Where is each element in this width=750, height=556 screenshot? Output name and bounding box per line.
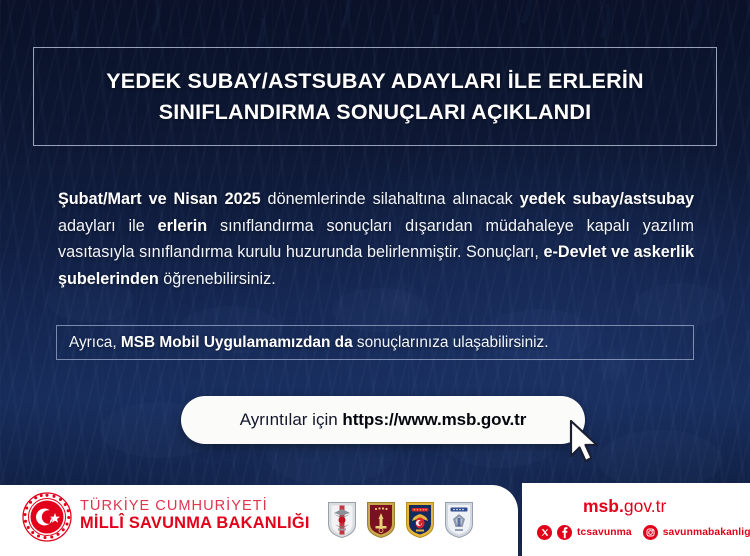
body-text-8: öğrenebilirsiniz. (159, 270, 276, 288)
footer-right-panel (522, 483, 750, 556)
mobile-app-info-text: Ayrıca, MSB Mobil Uygulamamızdan da sonu… (57, 334, 549, 352)
title-box: YEDEK SUBAY/ASTSUBAY ADAYLARI İLE ERLERİ… (33, 47, 717, 146)
instagram-handle-label: savunmabakanligi (663, 527, 750, 538)
ministry-republic-label: TÜRKİYE CUMHURİYETİ (80, 498, 310, 514)
body-paragraph: Şubat/Mart ve Nisan 2025 dönemlerinde si… (58, 186, 694, 292)
url-address: https://www.msb.gov.tr (342, 410, 526, 429)
armed-forces-emblems (327, 501, 474, 539)
ministry-name-block: TÜRKİYE CUMHURİYETİ MİLLÎ SAVUNMA BAKANL… (80, 498, 310, 533)
title-line-2: SINIFLANDIRMA SONUÇLARI AÇIKLANDI (159, 99, 592, 126)
facebook-icon[interactable] (557, 525, 572, 540)
hava-kuvvetleri-emblem-icon (405, 501, 435, 539)
msb-website-label[interactable]: msb.gov.tr (583, 496, 666, 517)
kara-kuvvetleri-emblem-icon (366, 501, 396, 539)
msb-website-prefix: msb. (583, 496, 624, 516)
url-prefix-label: Ayrıntılar için (240, 410, 343, 429)
title-line-1: YEDEK SUBAY/ASTSUBAY ADAYLARI İLE ERLERİ… (106, 68, 643, 95)
body-bold-candidates: yedek subay/astsubay (520, 190, 694, 208)
body-text-4: adayları ile (58, 217, 158, 235)
info-text-1: Ayrıca, (69, 334, 121, 351)
msb-website-suffix: gov.tr (624, 496, 666, 516)
body-bold-privates: erlerin (158, 217, 208, 235)
mobile-app-info-box: Ayrıca, MSB Mobil Uygulamamızdan da sonu… (56, 325, 694, 360)
msb-ministry-emblem-icon (22, 492, 72, 542)
x-twitter-icon[interactable] (537, 525, 552, 540)
body-text-2: dönemlerinde silahaltına alınacak (261, 190, 520, 208)
info-text-3: sonuçlarınıza ulaşabilirsiniz. (353, 334, 549, 351)
ministry-defence-label: MİLLÎ SAVUNMA BAKANLIĞI (80, 514, 310, 532)
announcement-poster: YEDEK SUBAY/ASTSUBAY ADAYLARI İLE ERLERİ… (0, 0, 750, 556)
details-url-text: Ayrıntılar için https://www.msb.gov.tr (240, 410, 527, 430)
instagram-icon[interactable] (643, 525, 658, 540)
genelkurmay-baskanligi-emblem-icon (327, 501, 357, 539)
info-bold-app: MSB Mobil Uygulamamızdan da (121, 334, 353, 351)
social-links-row: tcsavunma savunmabakanligi (537, 525, 750, 540)
deniz-kuvvetleri-emblem-icon (444, 501, 474, 539)
facebook-handle-label: tcsavunma (577, 527, 632, 538)
body-bold-period: Şubat/Mart ve Nisan 2025 (58, 190, 261, 208)
details-url-button[interactable]: Ayrıntılar için https://www.msb.gov.tr (181, 396, 585, 444)
